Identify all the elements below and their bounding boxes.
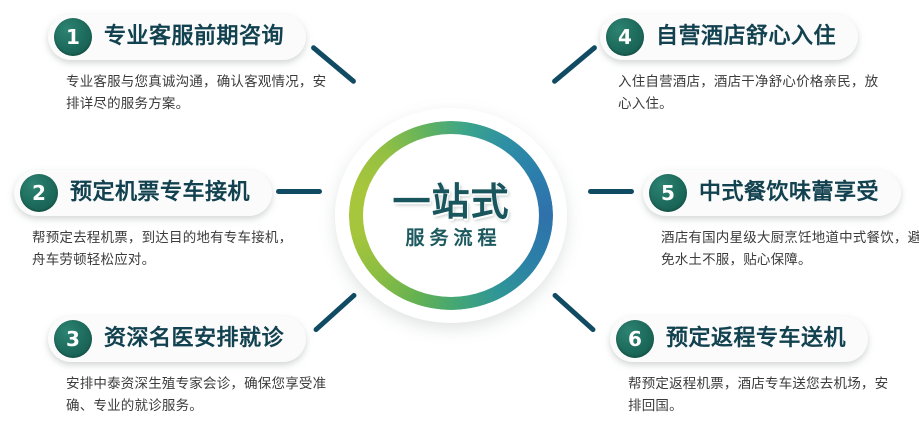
- step-item-5: 5 中式餐饮味蕾享受 酒店有国内星级大厨烹饪地道中式餐饮，避免水土不服，贴心保障…: [643, 170, 919, 272]
- connector-line-4: [551, 44, 598, 84]
- step-pill-3: 3 资深名医安排就诊: [48, 316, 306, 362]
- center-hub: 一站式 服务流程: [335, 108, 567, 323]
- step-title-1: 专业客服前期咨询: [104, 26, 284, 48]
- step-number-badge-1: 1: [54, 18, 92, 56]
- hub-text-group: 一站式 服务流程: [335, 108, 567, 323]
- step-number-badge-6: 6: [616, 320, 654, 358]
- step-number-badge-2: 2: [20, 174, 58, 212]
- step-title-5: 中式餐饮味蕾享受: [699, 182, 879, 204]
- step-description-1: 专业客服与您真诚沟通，确认客观情况，安排详尽的服务方案。: [48, 72, 328, 116]
- step-description-5: 酒店有国内星级大厨烹饪地道中式餐饮，避免水土不服，贴心保障。: [643, 228, 919, 272]
- step-pill-4: 4 自营酒店舒心入住: [600, 14, 858, 60]
- step-description-3: 安排中泰资深生殖专家会诊，确保您享受准确、专业的就诊服务。: [48, 374, 328, 418]
- step-item-6: 6 预定返程专车送机 帮预定返程机票，酒店专车送您去机场，安排回国。: [610, 316, 910, 418]
- infographic-canvas: 一站式 服务流程 1 专业客服前期咨询 专业客服与您真诚沟通，确认客观情况，安排…: [0, 0, 919, 425]
- step-pill-1: 1 专业客服前期咨询: [48, 14, 306, 60]
- hub-title: 一站式: [392, 183, 509, 221]
- step-item-4: 4 自营酒店舒心入住 入住自营酒店，酒店干净舒心价格亲民，放心入住。: [600, 14, 900, 116]
- connector-line-5: [588, 189, 634, 194]
- step-title-4: 自营酒店舒心入住: [656, 26, 836, 48]
- step-description-2: 帮预定去程机票，到达目的地有专车接机，舟车劳顿轻松应对。: [14, 228, 294, 272]
- step-item-2: 2 预定机票专车接机 帮预定去程机票，到达目的地有专车接机，舟车劳顿轻松应对。: [14, 170, 314, 272]
- step-description-4: 入住自营酒店，酒店干净舒心价格亲民，放心入住。: [600, 72, 880, 116]
- step-number-badge-5: 5: [649, 174, 687, 212]
- step-number-badge-4: 4: [606, 18, 644, 56]
- hub-subtitle: 服务流程: [400, 229, 501, 248]
- step-title-2: 预定机票专车接机: [70, 182, 250, 204]
- step-title-6: 预定返程专车送机: [666, 328, 846, 350]
- step-title-3: 资深名医安排就诊: [104, 328, 284, 350]
- step-item-1: 1 专业客服前期咨询 专业客服与您真诚沟通，确认客观情况，安排详尽的服务方案。: [48, 14, 348, 116]
- step-description-6: 帮预定返程机票，酒店专车送您去机场，安排回国。: [610, 374, 890, 418]
- step-pill-5: 5 中式餐饮味蕾享受: [643, 170, 901, 216]
- step-number-badge-3: 3: [54, 320, 92, 358]
- step-pill-6: 6 预定返程专车送机: [610, 316, 868, 362]
- step-item-3: 3 资深名医安排就诊 安排中泰资深生殖专家会诊，确保您享受准确、专业的就诊服务。: [48, 316, 348, 418]
- step-pill-2: 2 预定机票专车接机: [14, 170, 272, 216]
